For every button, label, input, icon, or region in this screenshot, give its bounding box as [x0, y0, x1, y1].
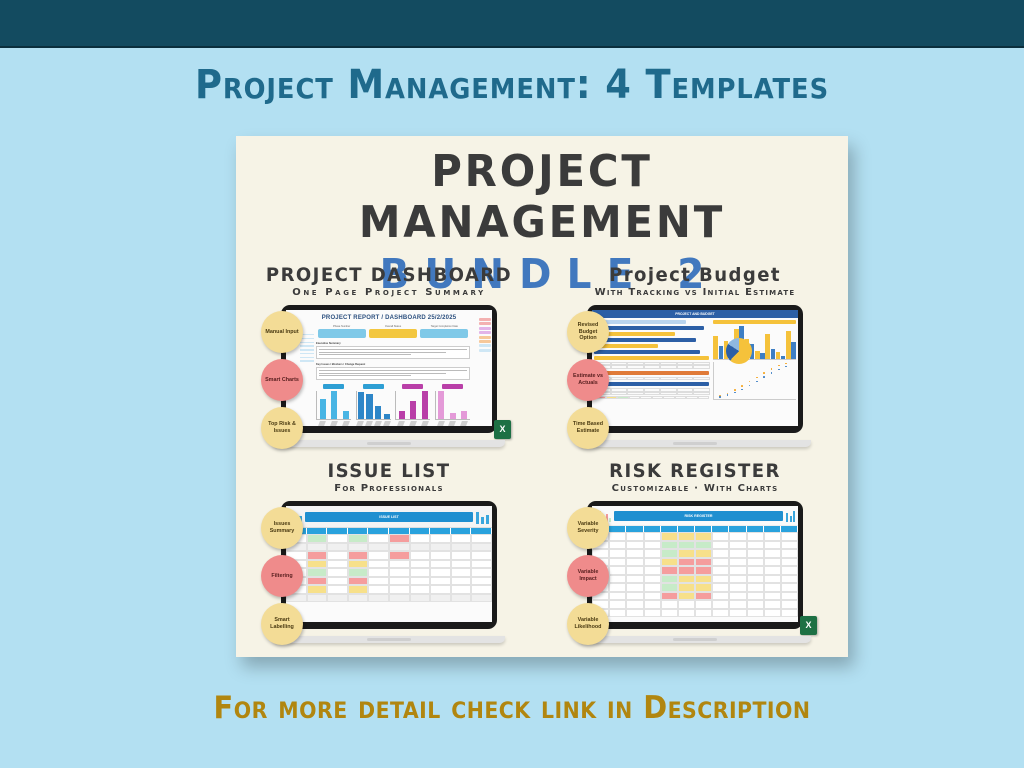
- sheet-title: ISSUE LIST: [305, 512, 473, 522]
- table-body: [592, 532, 798, 617]
- feature-badges: Issues Summary Filtering Smart Labelling: [261, 507, 305, 651]
- product-subtitle: One Page Project Summary: [236, 287, 542, 298]
- issues-block: Key Issues / Blockers / Change Request: [316, 363, 470, 380]
- table-row[interactable]: [592, 541, 798, 550]
- mini-chart-row: [316, 384, 470, 426]
- table-row[interactable]: [592, 600, 798, 609]
- badge-variable-severity: Variable Severity: [567, 507, 609, 549]
- table-row[interactable]: [592, 609, 798, 618]
- product-subtitle: For Professionals: [236, 483, 542, 494]
- budget-sheet: PROJECT AND BUDGET: [592, 310, 798, 426]
- budget-pie-chart: [726, 338, 752, 364]
- budget-line-chart: [713, 362, 796, 400]
- table-row[interactable]: [286, 585, 492, 594]
- product-grid: PROJECT DASHBOARD One Page Project Summa…: [236, 264, 848, 657]
- excel-file-icon: X: [800, 616, 817, 635]
- table-row[interactable]: [286, 568, 492, 577]
- budget-charts: [711, 318, 798, 402]
- mini-bar-chart-4: [435, 384, 470, 426]
- exec-summary-block: Executive Summary: [316, 342, 470, 359]
- badge-filtering: Filtering: [261, 555, 303, 597]
- pill-value: [369, 329, 417, 338]
- table-body: [286, 534, 492, 602]
- risk-toolbar: RISK REGISTER: [592, 506, 798, 526]
- laptop-screen: ISSUE LIST: [281, 501, 497, 629]
- page-footer-cta: For more detail check link in Descriptio…: [36, 690, 988, 726]
- badge-variable-likelihood: Variable Likelihood: [567, 603, 609, 645]
- laptop-mockup: ISSUE LIST: [273, 501, 505, 643]
- table-row[interactable]: [286, 594, 492, 603]
- table-row[interactable]: [592, 549, 798, 558]
- laptop-base: [579, 636, 811, 643]
- laptop-screen: PROJECT REPORT / DASHBOARD 25/2/2025 Pha…: [281, 305, 497, 433]
- mini-bar-chart-2: [356, 384, 391, 426]
- badge-issues-summary: Issues Summary: [261, 507, 303, 549]
- issue-toolbar: ISSUE LIST: [286, 506, 492, 528]
- badge-estimate-vs-actuals: Estimate vs Actuals: [567, 359, 609, 401]
- badge-top-risk-issues: Top Risk & Issues: [261, 407, 303, 449]
- feature-badges: Revised Budget Option Estimate vs Actual…: [567, 311, 611, 455]
- excel-file-icon: X: [494, 420, 511, 439]
- panel-title-bar: [713, 320, 796, 324]
- laptop-mockup: RISK REGISTER: [579, 501, 811, 643]
- pill-status[interactable]: Overall Status: [369, 325, 417, 338]
- table-row[interactable]: [592, 583, 798, 592]
- product-tile-project-dashboard[interactable]: PROJECT DASHBOARD One Page Project Summa…: [236, 264, 542, 460]
- badge-smart-charts: Smart Charts: [261, 359, 303, 401]
- table-row[interactable]: [286, 551, 492, 560]
- product-tile-issue-list[interactable]: ISSUE LIST For Professionals ISSUE LIST: [236, 460, 542, 656]
- product-card: PROJECT MANAGEMENT BUNDLE 2 PROJECT DASH…: [236, 136, 848, 657]
- right-legend-column: [479, 318, 491, 353]
- chart-tab: [363, 384, 384, 389]
- product-tile-risk-register[interactable]: RISK REGISTER Customizable · With Charts: [542, 460, 848, 656]
- table-row[interactable]: [592, 592, 798, 601]
- block-box: [316, 367, 470, 380]
- badge-revised-budget-option: Revised Budget Option: [567, 311, 609, 353]
- pill-value: [420, 329, 468, 338]
- chart-tab: [442, 384, 463, 389]
- dashboard-sheet: PROJECT REPORT / DASHBOARD 25/2/2025 Pha…: [286, 310, 492, 426]
- feature-badges: Manual Input Smart Charts Top Risk & Iss…: [261, 311, 305, 455]
- product-title: Project Budget: [550, 264, 841, 286]
- card-title: PROJECT MANAGEMENT: [251, 146, 832, 248]
- top-accent-bar: [0, 0, 1024, 48]
- product-subtitle: Customizable · With Charts: [542, 483, 848, 494]
- pill-caption: Overall Status: [369, 325, 417, 328]
- pill-caption: Target Completion Date: [420, 325, 468, 328]
- table-row[interactable]: [592, 532, 798, 541]
- mini-bar-chart-3: [395, 384, 430, 426]
- laptop-base: [579, 440, 811, 447]
- badge-time-based-estimate: Time Based Estimate: [567, 407, 609, 449]
- page-headline: Project Management: 4 Templates: [41, 62, 983, 108]
- pill-phase[interactable]: Phase Number: [318, 325, 366, 338]
- product-tile-project-budget[interactable]: Project Budget With Tracking vs Initial …: [542, 264, 848, 460]
- pill-target-date[interactable]: Target Completion Date: [420, 325, 468, 338]
- laptop-mockup: PROJECT REPORT / DASHBOARD 25/2/2025 Pha…: [273, 305, 505, 447]
- table-row[interactable]: [286, 577, 492, 586]
- badge-variable-impact: Variable Impact: [567, 555, 609, 597]
- table-row[interactable]: [592, 566, 798, 575]
- feature-badges: Variable Severity Variable Impact Variab…: [567, 507, 611, 651]
- block-box: [316, 346, 470, 359]
- chart-tab: [402, 384, 423, 389]
- laptop-mockup: PROJECT AND BUDGET: [579, 305, 811, 447]
- product-title: ISSUE LIST: [244, 460, 535, 482]
- badge-manual-input: Manual Input: [261, 311, 303, 353]
- sheet-title: PROJECT REPORT / DASHBOARD 25/2/2025: [286, 310, 492, 321]
- status-pill-row: Phase Number Overall Status Target Compl…: [316, 325, 470, 338]
- issue-list-sheet: ISSUE LIST: [286, 506, 492, 622]
- product-title: PROJECT DASHBOARD: [244, 264, 535, 286]
- risk-register-sheet: RISK REGISTER: [592, 506, 798, 622]
- sheet-title: PROJECT AND BUDGET: [592, 310, 798, 318]
- laptop-base: [273, 636, 505, 643]
- table-row[interactable]: [286, 534, 492, 543]
- laptop-screen: RISK REGISTER: [587, 501, 803, 629]
- block-label: Executive Summary: [316, 342, 470, 345]
- laptop-base: [273, 440, 505, 447]
- sheet-title: RISK REGISTER: [614, 511, 783, 521]
- table-row[interactable]: [286, 560, 492, 569]
- mini-bar-chart-1: [316, 384, 351, 426]
- table-row[interactable]: [286, 543, 492, 552]
- badge-smart-labelling: Smart Labelling: [261, 603, 303, 645]
- laptop-screen: PROJECT AND BUDGET: [587, 305, 803, 433]
- product-subtitle: With Tracking vs Initial Estimate: [542, 287, 848, 298]
- table-row[interactable]: [592, 575, 798, 584]
- block-label: Key Issues / Blockers / Change Request: [316, 363, 470, 366]
- chart-tab: [323, 384, 344, 389]
- pill-caption: Phase Number: [318, 325, 366, 328]
- table-row[interactable]: [592, 558, 798, 567]
- product-title: RISK REGISTER: [550, 460, 841, 482]
- pill-value: [318, 329, 366, 338]
